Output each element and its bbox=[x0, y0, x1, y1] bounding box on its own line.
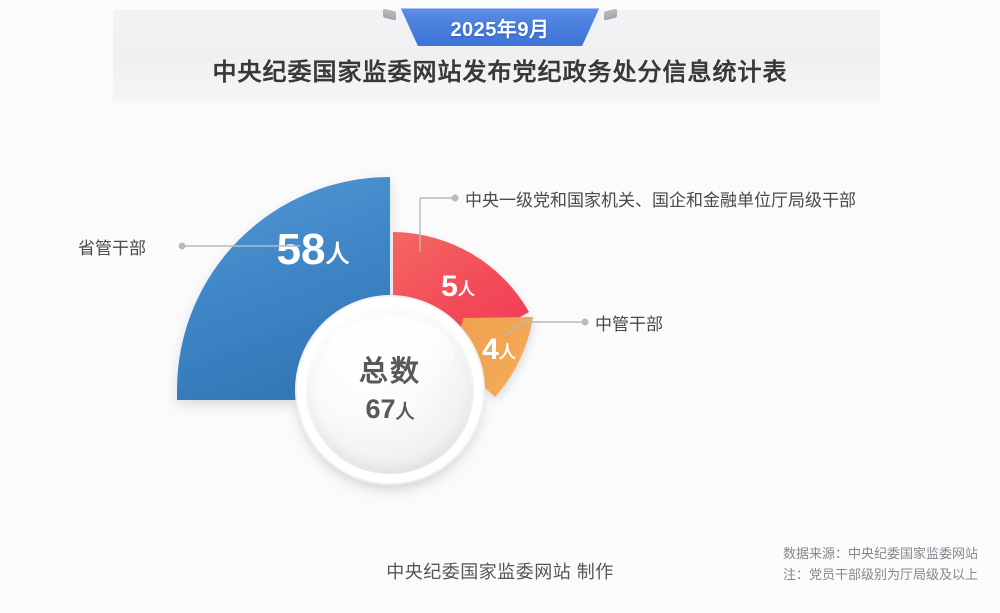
donut-chart: 58人 5人 4人 总数 67人 bbox=[0, 0, 1000, 613]
callout-label-left: 省管干部 bbox=[78, 234, 146, 259]
donut-chart-svg: 58人 5人 4人 bbox=[0, 0, 1000, 613]
center-total-value: 67人 bbox=[365, 396, 414, 423]
note-line: 注：党员干部级别为厅局级及以上 bbox=[783, 564, 978, 585]
segment-orange-value: 4 bbox=[482, 333, 499, 366]
ribbon-label: 2025年9月 bbox=[392, 8, 608, 46]
source-note: 数据来源：中央纪委国家监委网站 注：党员干部级别为厅局级及以上 bbox=[783, 543, 978, 586]
center-total-bubble: 总数 67人 bbox=[306, 306, 474, 474]
center-total-number: 67 bbox=[365, 394, 395, 424]
segment-red-value: 5 bbox=[441, 270, 458, 303]
callout-label-right: 中管干部 bbox=[595, 310, 663, 335]
center-total-label: 总数 bbox=[359, 358, 421, 387]
segment-blue-value: 58 bbox=[277, 225, 326, 274]
callout-label-top: 中央一级党和国家机关、国企和金融单位厅局级干部 bbox=[465, 186, 856, 211]
segment-blue-unit: 人 bbox=[325, 241, 349, 268]
segment-red-unit: 人 bbox=[458, 280, 476, 299]
date-ribbon: 2025年9月 bbox=[392, 8, 608, 46]
center-total-unit: 人 bbox=[396, 402, 415, 423]
source-line: 数据来源：中央纪委国家监委网站 bbox=[783, 543, 978, 564]
segment-orange-unit: 人 bbox=[499, 343, 517, 362]
